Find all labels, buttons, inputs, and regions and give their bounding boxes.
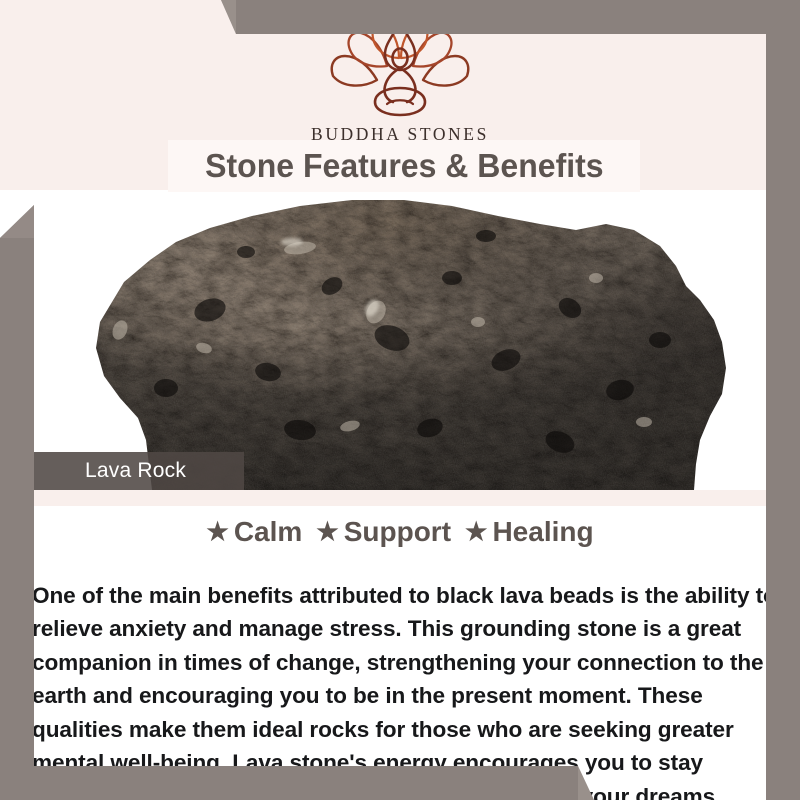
star-icon: ★ bbox=[316, 518, 338, 546]
benefit-item-support: ★Support bbox=[316, 516, 451, 548]
panel-divider-strip bbox=[0, 490, 800, 506]
page-title: Stone Features & Benefits bbox=[205, 147, 603, 185]
benefit-item-calm: ★Calm bbox=[206, 516, 302, 548]
star-icon: ★ bbox=[206, 518, 228, 546]
poster-root: Lava Rock bbox=[0, 0, 800, 800]
benefits-row: ★Calm★Support★Healing bbox=[0, 516, 800, 548]
benefit-label-healing: Healing bbox=[492, 516, 593, 547]
brand-logo: BUDDHA STONES bbox=[0, 18, 800, 145]
body-paragraph: One of the main benefits attributed to b… bbox=[32, 579, 784, 800]
star-icon: ★ bbox=[465, 518, 487, 546]
photo-caption-text: Lava Rock bbox=[22, 459, 186, 483]
page-title-plate: Stone Features & Benefits bbox=[168, 140, 640, 192]
photo-caption-bar: Lava Rock bbox=[22, 452, 244, 490]
benefit-item-healing: ★Healing bbox=[465, 516, 594, 548]
lava-rock-photo bbox=[0, 190, 800, 490]
lotus-meditation-logo-icon bbox=[315, 18, 485, 122]
benefit-label-calm: Calm bbox=[234, 516, 302, 547]
benefit-label-support: Support bbox=[344, 516, 451, 547]
